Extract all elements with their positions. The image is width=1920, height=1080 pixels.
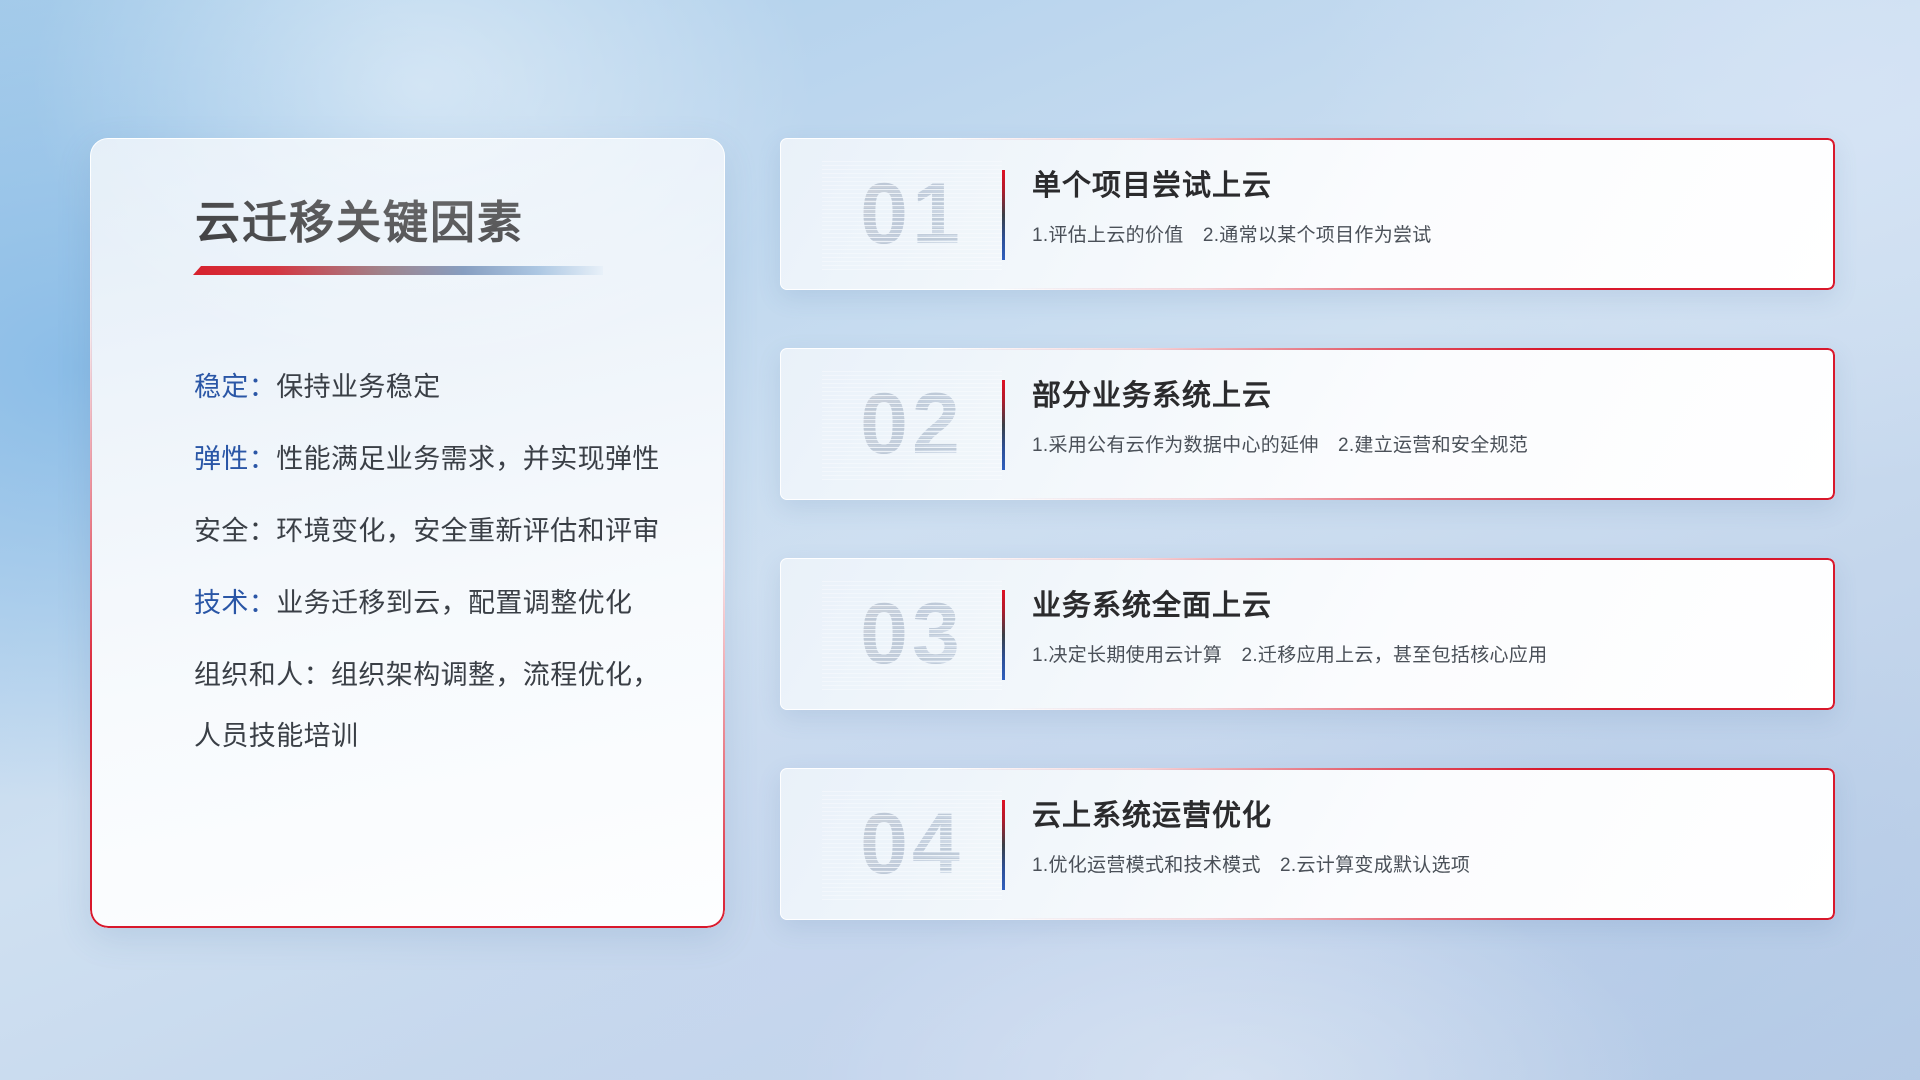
- factor-value: 保持业务稳定: [276, 372, 440, 402]
- factor-item-organization: 组织和人：组织架构调整，流程优化， 人员技能培训: [194, 658, 694, 754]
- step-description: 1.优化运营模式和技术模式 2.云计算变成默认选项: [1032, 850, 1801, 877]
- step-divider-rule: [1002, 800, 1005, 890]
- step-title: 部分业务系统上云: [1032, 372, 1801, 414]
- step-card-03[interactable]: 03 业务系统全面上云 1.决定长期使用云计算 2.迁移应用上云，甚至包括核心应…: [780, 558, 1835, 710]
- factor-value-continued: 人员技能培训: [194, 719, 694, 754]
- key-factors-list: 稳定：保持业务稳定 弹性：性能满足业务需求，并实现弹性 安全：环境变化，安全重新…: [194, 370, 694, 755]
- factor-item-security: 安全：环境变化，安全重新评估和评审: [194, 514, 694, 549]
- factor-value: 性能满足业务需求，并实现弹性: [276, 444, 660, 474]
- step-title: 业务系统全面上云: [1032, 582, 1801, 624]
- factor-item-stability: 稳定：保持业务稳定: [194, 370, 694, 405]
- step-number-04: 04: [822, 788, 1002, 900]
- factor-item-elasticity: 弹性：性能满足业务需求，并实现弹性: [194, 442, 694, 477]
- glitch-scanline-overlay: [822, 788, 1002, 900]
- step-card-04[interactable]: 04 云上系统运营优化 1.优化运营模式和技术模式 2.云计算变成默认选项: [780, 768, 1835, 920]
- step-body: 云上系统运营优化 1.优化运营模式和技术模式 2.云计算变成默认选项: [1032, 792, 1801, 877]
- step-description: 1.评估上云的价值 2.通常以某个项目作为尝试: [1032, 220, 1801, 247]
- step-title: 单个项目尝试上云: [1032, 162, 1801, 204]
- step-body: 业务系统全面上云 1.决定长期使用云计算 2.迁移应用上云，甚至包括核心应用: [1032, 582, 1801, 667]
- factor-key: 弹性：: [194, 444, 276, 474]
- step-divider-rule: [1002, 590, 1005, 680]
- step-number-03: 03: [822, 578, 1002, 690]
- title-underline-rule: [193, 266, 603, 275]
- step-divider-rule: [1002, 380, 1005, 470]
- factor-key: 组织和人：: [194, 660, 331, 690]
- key-factors-panel: 云迁移关键因素 稳定：保持业务稳定 弹性：性能满足业务需求，并实现弹性 安全：环…: [90, 138, 725, 928]
- factor-key: 稳定：: [194, 372, 276, 402]
- factor-value: 组织架构调整，流程优化，: [331, 660, 660, 690]
- step-divider-rule: [1002, 170, 1005, 260]
- step-card-02[interactable]: 02 部分业务系统上云 1.采用公有云作为数据中心的延伸 2.建立运营和安全规范: [780, 348, 1835, 500]
- factor-key: 安全：: [194, 516, 276, 546]
- step-number-02: 02: [822, 368, 1002, 480]
- step-description: 1.采用公有云作为数据中心的延伸 2.建立运营和安全规范: [1032, 430, 1801, 457]
- slide-canvas: 云迁移关键因素 稳定：保持业务稳定 弹性：性能满足业务需求，并实现弹性 安全：环…: [0, 0, 1920, 1080]
- step-number-01: 01: [822, 158, 1002, 270]
- page-title: 云迁移关键因素: [195, 186, 524, 251]
- step-card-01[interactable]: 01 单个项目尝试上云 1.评估上云的价值 2.通常以某个项目作为尝试: [780, 138, 1835, 290]
- glitch-scanline-overlay: [822, 578, 1002, 690]
- step-description: 1.决定长期使用云计算 2.迁移应用上云，甚至包括核心应用: [1032, 640, 1801, 667]
- step-title: 云上系统运营优化: [1032, 792, 1801, 834]
- glitch-scanline-overlay: [822, 158, 1002, 270]
- migration-steps-list: 01 单个项目尝试上云 1.评估上云的价值 2.通常以某个项目作为尝试 02 部…: [780, 138, 1835, 920]
- factor-key: 技术：: [194, 588, 276, 618]
- step-body: 单个项目尝试上云 1.评估上云的价值 2.通常以某个项目作为尝试: [1032, 162, 1801, 247]
- factor-item-technology: 技术：业务迁移到云，配置调整优化: [194, 586, 694, 621]
- factor-value: 业务迁移到云，配置调整优化: [276, 588, 632, 618]
- glitch-scanline-overlay: [822, 368, 1002, 480]
- step-body: 部分业务系统上云 1.采用公有云作为数据中心的延伸 2.建立运营和安全规范: [1032, 372, 1801, 457]
- factor-value: 环境变化，安全重新评估和评审: [276, 516, 660, 546]
